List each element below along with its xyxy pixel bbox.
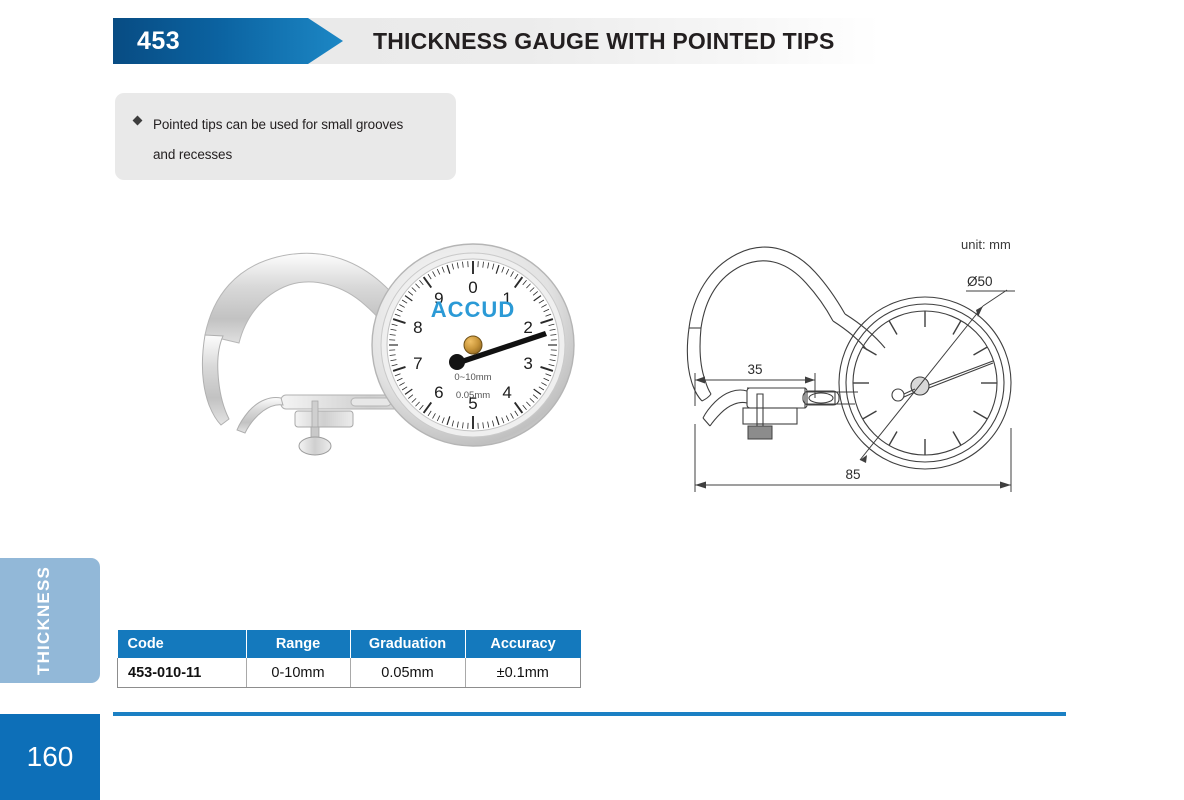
dial-range-label: 0~10mm <box>454 372 491 383</box>
dim-85-arrow-left <box>695 482 706 489</box>
table-cell-code: 453-010-11 <box>118 658 247 688</box>
product-photo-svg: 0123456789 ACCUD 0~10mm 0.05mm <box>185 235 605 505</box>
clamp-post <box>312 401 318 431</box>
footer-rule <box>113 712 1066 716</box>
dim-35-arrow-right <box>805 377 815 384</box>
specification-table: Code Range Graduation Accuracy 453-010-1… <box>117 630 581 688</box>
drawing-thumb-screw <box>748 426 772 439</box>
feature-callout-box: Pointed tips can be used for small groov… <box>115 93 456 180</box>
table-header-row: Code Range Graduation Accuracy <box>118 630 581 658</box>
page-title: THICKNESS GAUGE WITH POINTED TIPS <box>373 18 835 64</box>
diameter-arrow-2 <box>976 306 983 317</box>
drawing-upper-tip-end <box>702 394 711 401</box>
feature-text-line-1: Pointed tips can be used for small groov… <box>153 110 434 140</box>
svg-text:4: 4 <box>502 383 511 402</box>
drawing-clamp <box>743 408 797 424</box>
table-header-range: Range <box>246 630 350 658</box>
dim-35-label: 35 <box>747 362 762 377</box>
feature-item: Pointed tips can be used for small groov… <box>134 110 434 170</box>
svg-text:8: 8 <box>413 318 422 337</box>
svg-text:2: 2 <box>523 318 532 337</box>
drawing-upper-arm-top <box>689 247 845 328</box>
drawing-lower-arm-box <box>747 388 807 408</box>
header-series-code: 453 <box>137 18 180 64</box>
drawing-lower-tip-top <box>703 390 747 418</box>
page-number-block: 160 <box>0 714 100 800</box>
thumb-screw-knob <box>299 437 331 455</box>
svg-text:6: 6 <box>434 383 443 402</box>
page-number: 160 <box>0 714 100 800</box>
clamp-block <box>295 411 353 427</box>
unit-label: unit: mm <box>961 237 1011 252</box>
dial-needle-tail <box>449 354 465 370</box>
dim-35-group <box>695 373 815 406</box>
table-header-code: Code <box>118 630 247 658</box>
table-header-graduation: Graduation <box>350 630 465 658</box>
arm-slot <box>351 398 391 406</box>
svg-text:0: 0 <box>468 278 477 297</box>
page-header: 453 THICKNESS GAUGE WITH POINTED TIPS <box>0 18 1184 64</box>
drawing-lower-tip-bottom <box>710 402 747 426</box>
lower-pointed-tip <box>237 398 283 433</box>
svg-text:7: 7 <box>413 354 422 373</box>
diamond-bullet-icon <box>133 116 143 126</box>
drawing-clamp-post <box>757 394 763 428</box>
drawing-lower-arm <box>747 388 805 408</box>
product-photo: 0123456789 ACCUD 0~10mm 0.05mm <box>185 235 605 505</box>
feature-text-line-2: and recesses <box>153 140 434 170</box>
dim-85-arrow-right <box>1000 482 1011 489</box>
drawing-arm-slot <box>809 393 833 403</box>
svg-text:3: 3 <box>523 354 532 373</box>
table-cell-range: 0-10mm <box>246 658 350 688</box>
dim-85-label: 85 <box>845 467 860 482</box>
dial-hub <box>464 336 482 354</box>
diameter-label: Ø50 <box>967 274 993 289</box>
table-header-accuracy: Accuracy <box>465 630 581 658</box>
technical-drawing-svg: Ø50 35 85 <box>675 228 1075 508</box>
drawing-upper-tip-inner <box>700 328 711 394</box>
drawing-needle <box>892 361 993 401</box>
table-row: 453-010-11 0-10mm 0.05mm ±0.1mm <box>118 658 581 688</box>
dial-brand-label: ACCUD <box>431 297 515 322</box>
dial-graduation-label: 0.05mm <box>456 390 490 401</box>
technical-drawing: Ø50 35 85 <box>675 228 1075 508</box>
table-cell-graduation: 0.05mm <box>350 658 465 688</box>
sidebar-category-label: THICKNESS <box>0 558 100 683</box>
upper-pointed-tip <box>202 335 229 425</box>
dim-35-arrow-left <box>695 377 705 384</box>
drawing-lower-tip-end <box>703 418 710 426</box>
drawing-upper-arm-bottom <box>701 261 833 328</box>
table-cell-accuracy: ±0.1mm <box>465 658 581 688</box>
sidebar-category-tab[interactable]: THICKNESS <box>0 558 100 683</box>
